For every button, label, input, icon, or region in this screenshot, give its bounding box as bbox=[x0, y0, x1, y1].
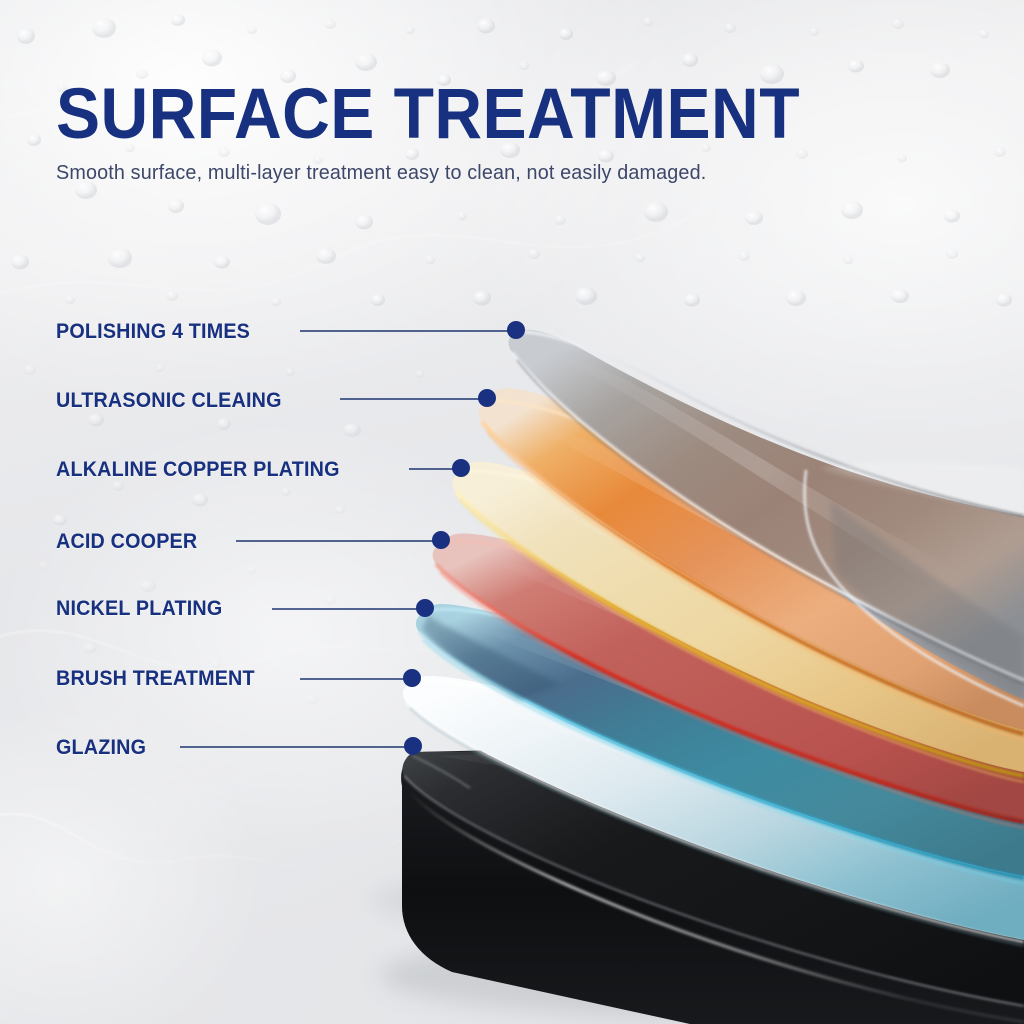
callout-label-nickel-plating: NICKEL PLATING bbox=[56, 597, 222, 621]
callout-label-alkaline-copper-plating: ALKALINE COPPER PLATING bbox=[56, 458, 340, 482]
callout-label-acid-cooper: ACID COOPER bbox=[56, 530, 197, 554]
callout-label-brush-treatment: BRUSH TREATMENT bbox=[56, 667, 255, 691]
callout-label-ultrasonic-cleaing: ULTRASONIC CLEAING bbox=[56, 389, 282, 413]
callout-label-polishing-4-times: POLISHING 4 TIMES bbox=[56, 320, 250, 344]
poster-canvas: SURFACE TREATMENT Smooth surface, multi-… bbox=[0, 0, 1024, 1024]
callout-labels: POLISHING 4 TIMESULTRASONIC CLEAINGALKAL… bbox=[0, 0, 1024, 1024]
callout-label-glazing: GLAZING bbox=[56, 736, 146, 760]
